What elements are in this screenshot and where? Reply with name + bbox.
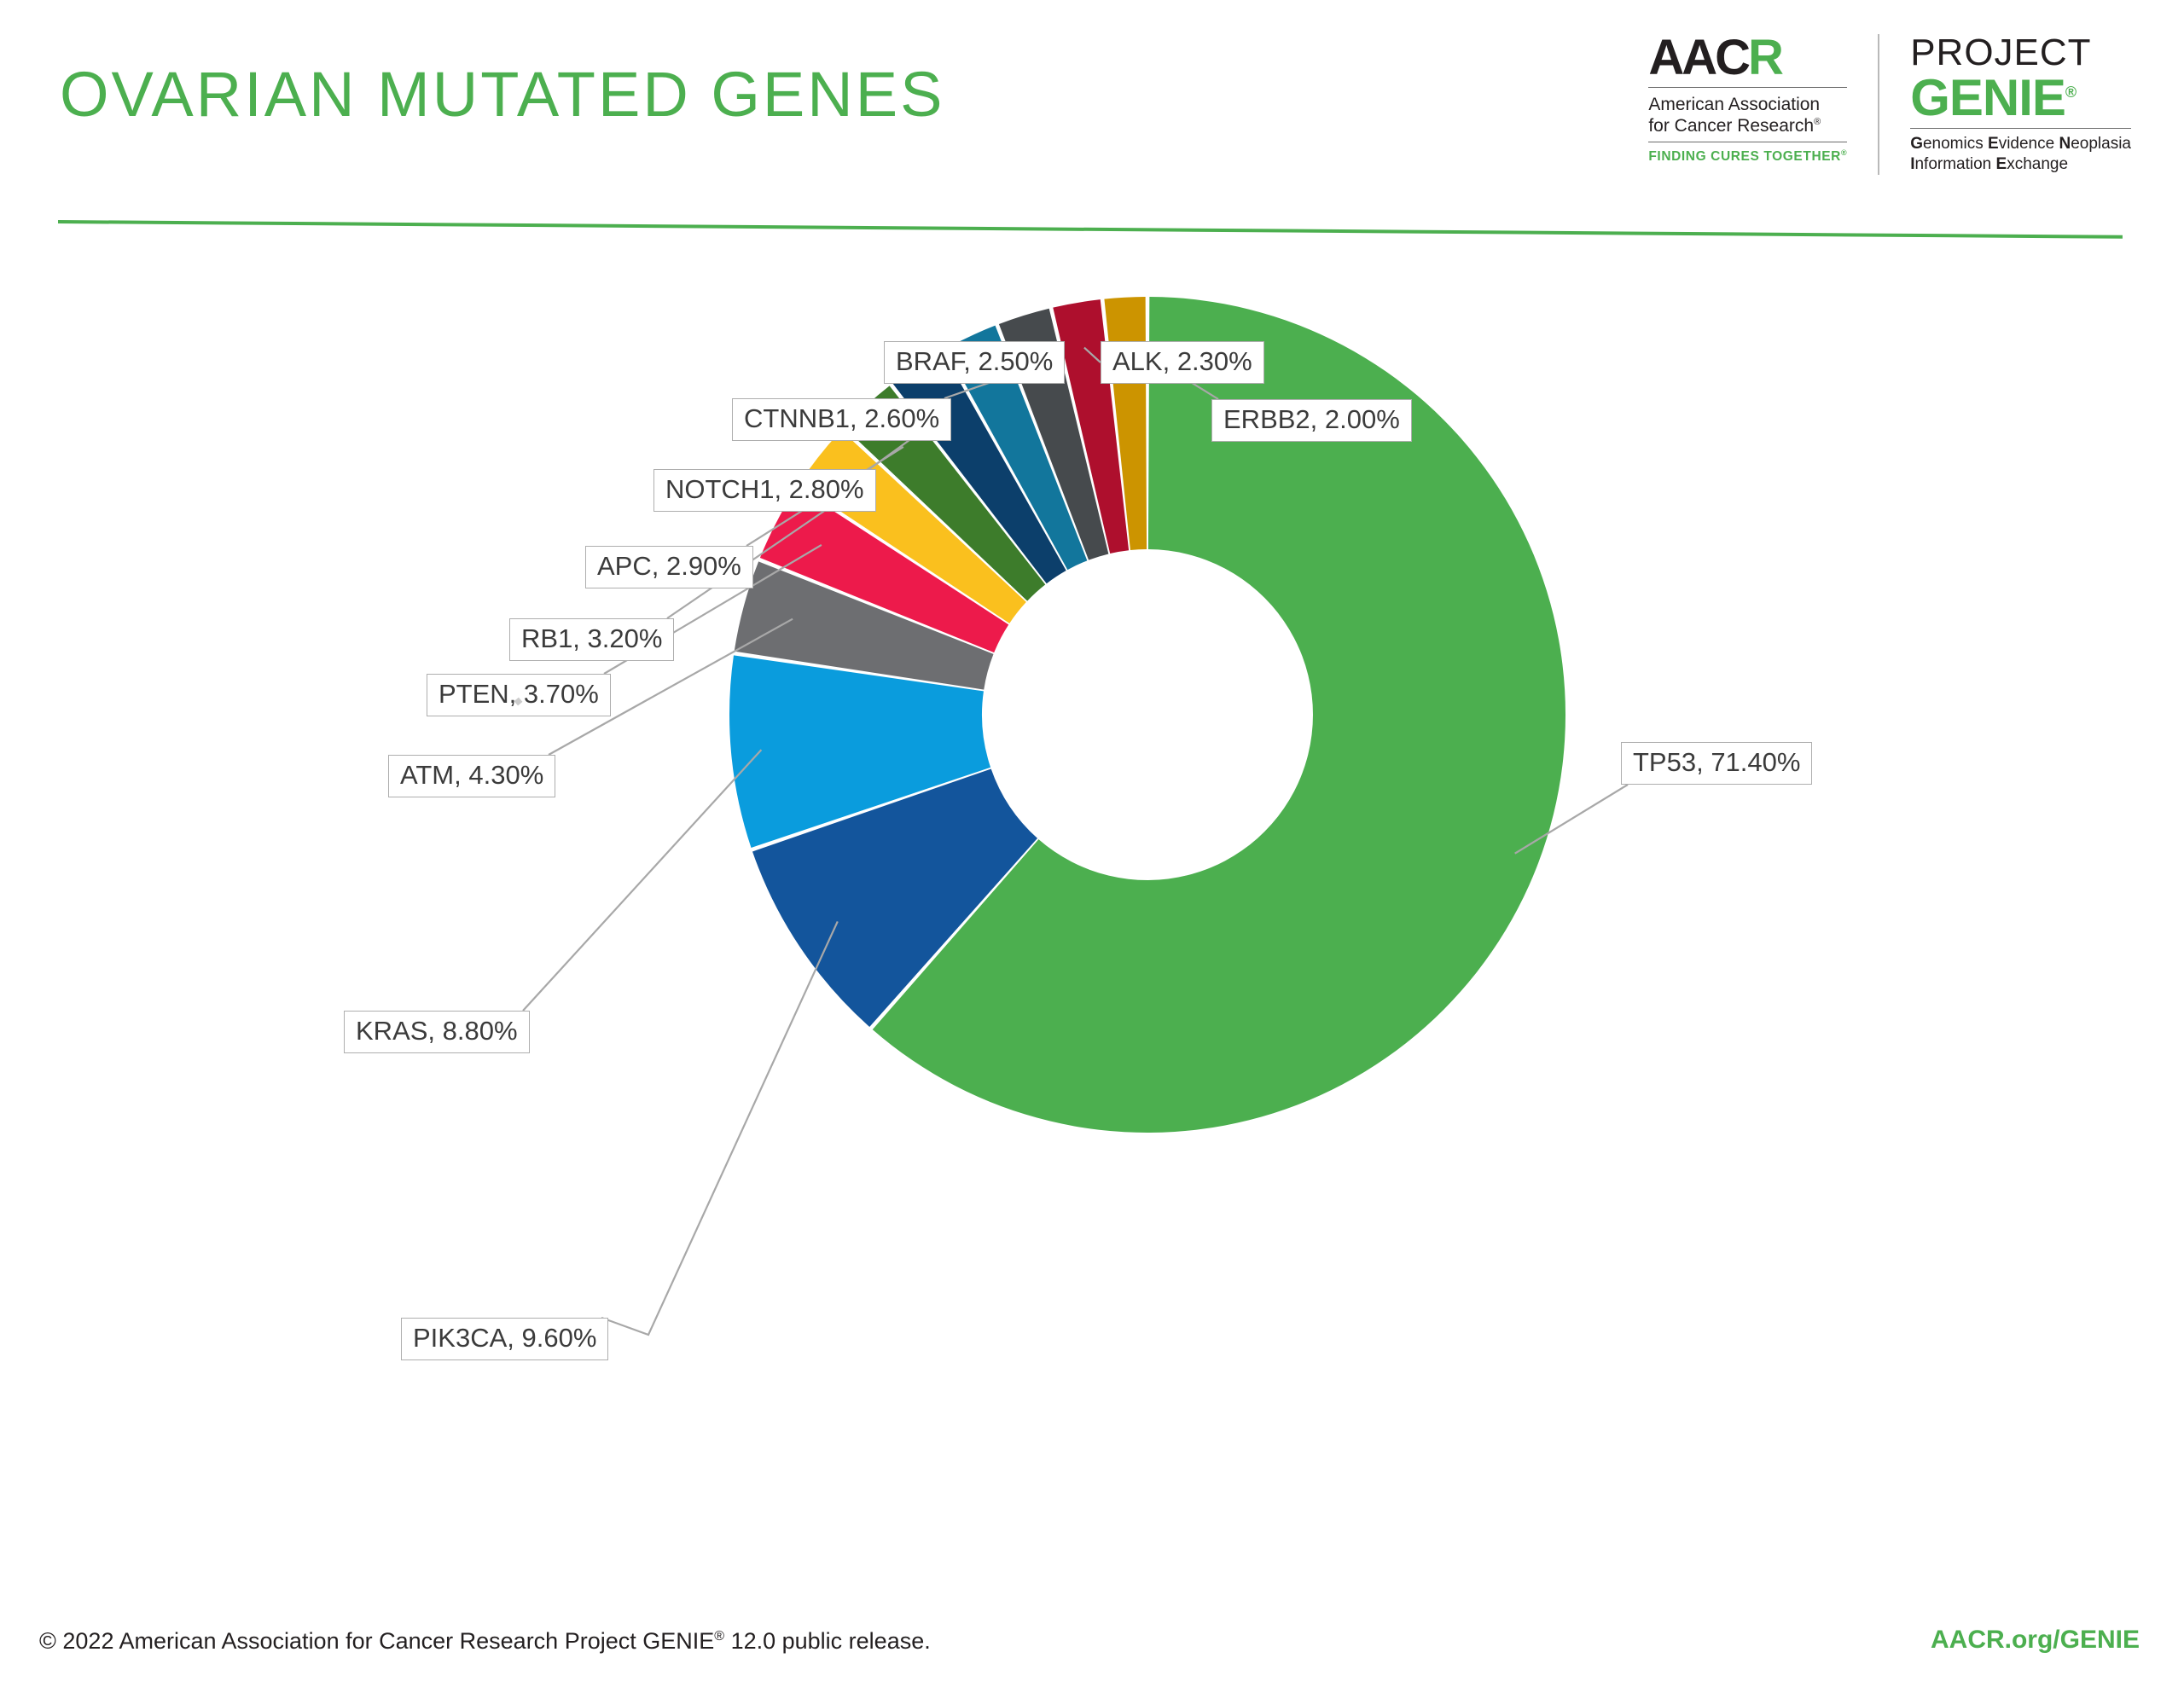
page-title: OVARIAN MUTATED GENES — [60, 58, 944, 130]
aacr-subtitle-line1: American Association — [1648, 94, 1821, 116]
callout-label-rb1[interactable]: RB1, 3.20% — [509, 618, 674, 661]
aacr-subtitle: American Association for Cancer Research… — [1648, 94, 1821, 137]
leader-line-kras — [523, 750, 761, 1011]
genie-sub-e: E — [1988, 135, 1999, 153]
genie-sub-xchange: xchange — [2007, 155, 2068, 173]
callout-label-ctnnb1[interactable]: CTNNB1, 2.60% — [732, 398, 951, 441]
callout-label-notch1[interactable]: NOTCH1, 2.80% — [653, 469, 876, 512]
genie-rule — [1910, 128, 2131, 129]
genie-wordmark-text: GENIE — [1910, 69, 2065, 126]
logo-block: AACR American Association for Cancer Res… — [1648, 34, 2131, 175]
footer-url-link[interactable]: AACR.org/GENIE — [1931, 1626, 2140, 1655]
genie-sub-nformation: nformation — [1914, 155, 1995, 173]
callout-label-apc[interactable]: APC, 2.90% — [585, 546, 753, 588]
genie-sub-enomics: enomics — [1923, 135, 1988, 153]
genie-sub-e2: E — [1996, 155, 2007, 173]
genie-registered-icon: ® — [2065, 84, 2076, 101]
leader-line-pik3ca — [601, 921, 838, 1335]
genie-wordmark: GENIE® — [1910, 72, 2076, 124]
callout-label-pten[interactable]: PTEN, 3.70% — [427, 674, 611, 716]
footer-copyright: © 2022 American Association for Cancer R… — [39, 1628, 931, 1655]
callout-label-pik3ca[interactable]: PIK3CA, 9.60% — [401, 1318, 608, 1360]
genie-project-word: PROJECT — [1910, 34, 2091, 72]
genie-subtitle-line2: Information Exchange — [1910, 154, 2068, 175]
donut-chart-svg — [0, 256, 2184, 1552]
genie-sub-g: G — [1910, 135, 1923, 153]
callout-label-atm[interactable]: ATM, 4.30% — [388, 755, 555, 797]
aacr-logo: AACR American Association for Cancer Res… — [1648, 34, 1879, 175]
header-divider-rule — [58, 220, 2123, 239]
aacr-tagline-registered-icon: ® — [1841, 148, 1847, 157]
aacr-subtitle-line2-text: for Cancer Research — [1648, 116, 1814, 136]
genie-sub-eoplasia: eoplasia — [2071, 135, 2131, 153]
callout-label-kras[interactable]: KRAS, 8.80% — [344, 1011, 530, 1053]
footer-copyright-tail: 12.0 public release. — [731, 1628, 931, 1654]
aacr-wordmark-r: R — [1748, 30, 1781, 85]
callout-label-erbb2[interactable]: ERBB2, 2.00% — [1211, 399, 1412, 442]
aacr-tagline: FINDING CURES TOGETHER® — [1648, 148, 1847, 165]
aacr-subtitle-line2: for Cancer Research® — [1648, 115, 1821, 137]
genie-sub-vidence: vidence — [1999, 135, 2059, 153]
aacr-tagline-text: FINDING CURES TOGETHER — [1648, 149, 1841, 164]
aacr-rule-top — [1648, 87, 1847, 88]
donut-chart: TP53, 71.40%PIK3CA, 9.60%KRAS, 8.80%ATM,… — [0, 256, 2184, 1552]
aacr-wordmark-aac: AAC — [1648, 30, 1748, 85]
genie-subtitle-line1: Genomics Evidence Neoplasia — [1910, 134, 2131, 154]
footer-copyright-text: © 2022 American Association for Cancer R… — [39, 1628, 714, 1654]
genie-sub-n: N — [2059, 135, 2071, 153]
footer-registered-icon: ® — [714, 1629, 724, 1644]
callout-label-braf[interactable]: BRAF, 2.50% — [884, 341, 1065, 384]
project-genie-logo: PROJECT GENIE® Genomics Evidence Neoplas… — [1879, 34, 2131, 175]
aacr-registered-icon: ® — [1814, 117, 1821, 127]
aacr-rule-bottom — [1648, 142, 1847, 142]
aacr-wordmark: AACR — [1648, 34, 1781, 83]
callout-label-alk[interactable]: ALK, 2.30% — [1101, 341, 1264, 384]
callout-label-tp53[interactable]: TP53, 71.40% — [1621, 742, 1812, 785]
